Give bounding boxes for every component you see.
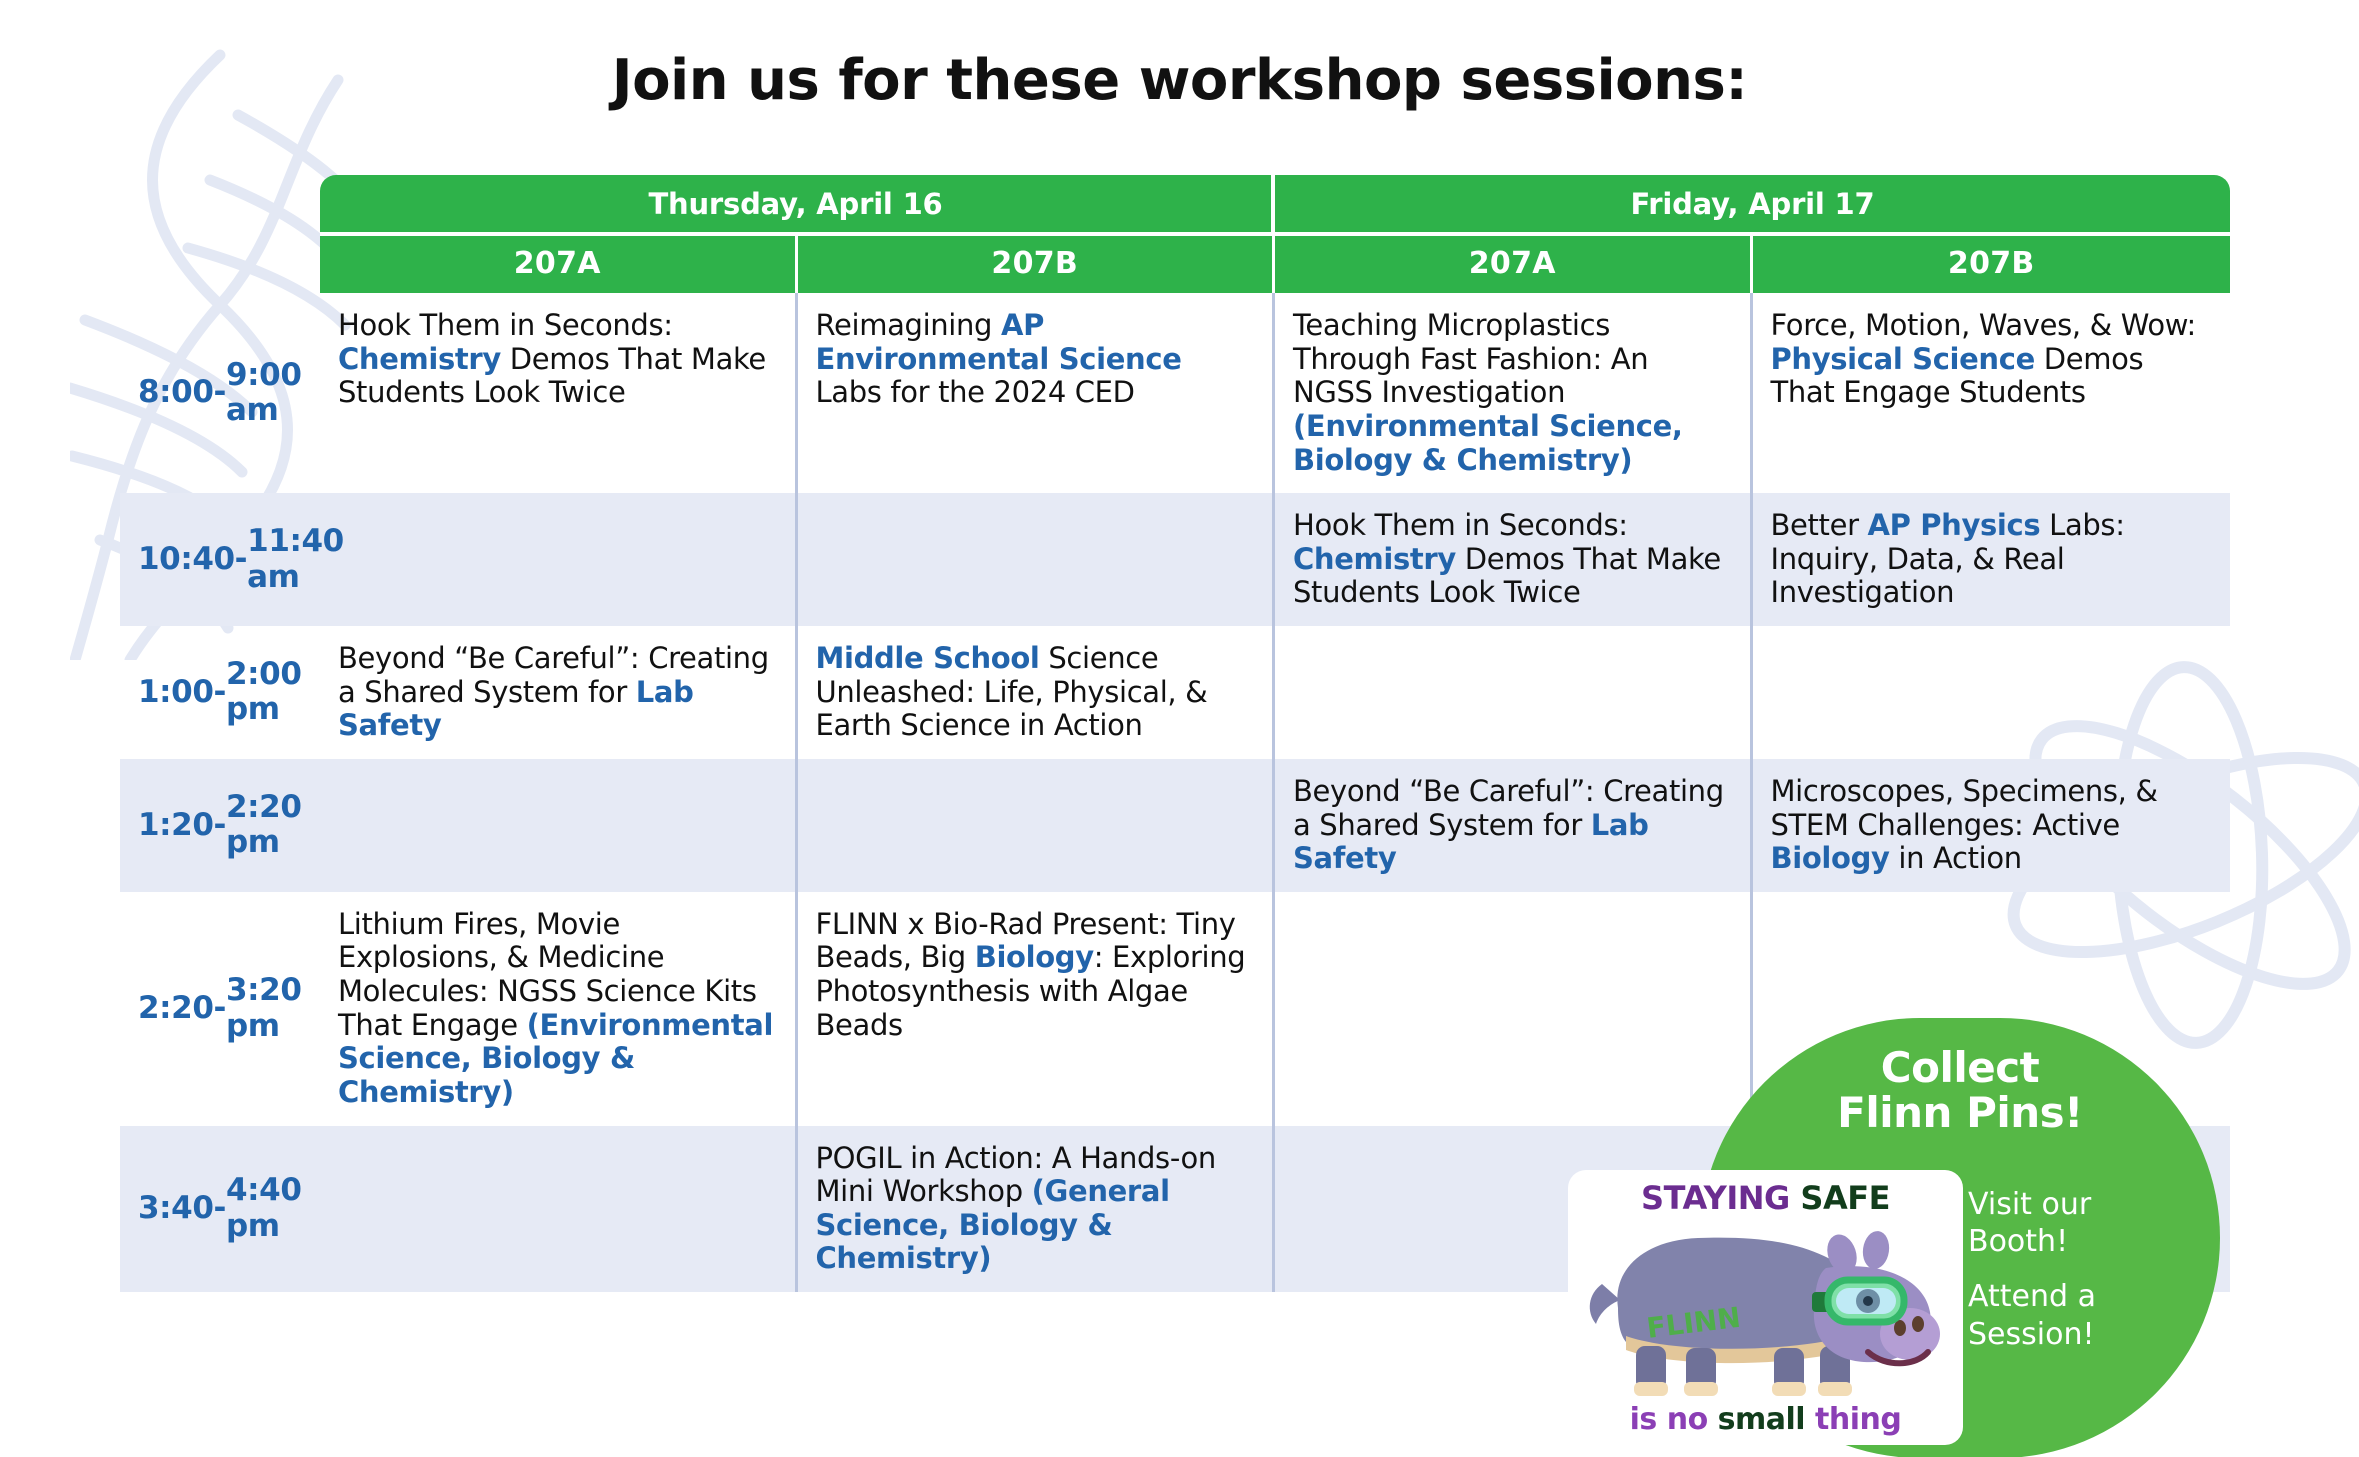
logo-top-text: STAYING SAFE xyxy=(1568,1179,1963,1217)
room-header-row: 207A 207B 207A 207B xyxy=(320,232,2230,293)
logo-word-thing: thing xyxy=(1815,1402,1901,1437)
time-slot-label: 8:00-9:00 am xyxy=(120,293,320,493)
session-cell[interactable]: Hook Them in Seconds: Chemistry Demos Th… xyxy=(1275,493,1753,626)
day-header-row: Thursday, April 16 Friday, April 17 xyxy=(320,175,2230,232)
page-title: Join us for these workshop sessions: xyxy=(0,48,2359,113)
empty-cell xyxy=(798,759,1276,892)
hippo-mascot-icon: FLINN xyxy=(1580,1212,1950,1402)
session-cell[interactable]: Reimagining AP Environmental Science Lab… xyxy=(798,293,1276,493)
badge-cta: Visit our Booth! Attend a Session! xyxy=(1968,1186,2198,1371)
logo-word-safe: SAFE xyxy=(1800,1179,1890,1217)
session-cell[interactable]: Microscopes, Specimens, & STEM Challenge… xyxy=(1753,759,2231,892)
session-cell[interactable]: FLINN x Bio-Rad Present: Tiny Beads, Big… xyxy=(798,892,1276,1126)
table-row: 1:20-2:20 pmBeyond “Be Careful”: Creatin… xyxy=(320,759,2230,892)
day-header-friday: Friday, April 17 xyxy=(1275,175,2230,232)
time-slot-label: 3:40-4:40 pm xyxy=(120,1126,320,1293)
session-cell[interactable]: Middle School Science Unleashed: Life, P… xyxy=(798,626,1276,759)
empty-cell xyxy=(798,493,1276,626)
room-header-thursday-207b: 207B xyxy=(798,236,1276,293)
table-header: Thursday, April 16 Friday, April 17 207A… xyxy=(320,175,2230,293)
logo-word-small: small xyxy=(1718,1402,1805,1437)
session-cell[interactable]: Beyond “Be Careful”: Creating a Shared S… xyxy=(1275,759,1753,892)
collect-flinn-pins-badge: Collect Flinn Pins! Visit our Booth! Att… xyxy=(1700,1018,2220,1457)
time-slot-label: 1:00-2:00 pm xyxy=(120,626,320,759)
staying-safe-logo-card: STAYING SAFE xyxy=(1568,1170,1963,1445)
empty-cell xyxy=(320,1126,798,1293)
table-row: 10:40-11:40 amHook Them in Seconds: Chem… xyxy=(320,493,2230,626)
room-header-friday-207b: 207B xyxy=(1753,236,2231,293)
badge-title-line2: Flinn Pins! xyxy=(1837,1088,2083,1137)
empty-cell xyxy=(320,759,798,892)
logo-bottom-text: is no small thing xyxy=(1568,1402,1963,1437)
empty-cell xyxy=(320,493,798,626)
table-row: 8:00-9:00 amHook Them in Seconds: Chemis… xyxy=(320,293,2230,493)
room-header-friday-207a: 207A xyxy=(1275,236,1753,293)
session-cell[interactable]: Force, Motion, Waves, & Wow: Physical Sc… xyxy=(1753,293,2231,493)
session-cell[interactable]: Hook Them in Seconds: Chemistry Demos Th… xyxy=(320,293,798,493)
time-slot-label: 10:40-11:40 am xyxy=(120,493,320,626)
session-cell[interactable]: Beyond “Be Careful”: Creating a Shared S… xyxy=(320,626,798,759)
poster-canvas: Join us for these workshop sessions: Thu… xyxy=(0,0,2359,1457)
badge-title-line1: Collect xyxy=(1881,1043,2039,1092)
empty-cell xyxy=(1753,626,2231,759)
table-row: 1:00-2:00 pmBeyond “Be Careful”: Creatin… xyxy=(320,626,2230,759)
time-slot-label: 1:20-2:20 pm xyxy=(120,759,320,892)
room-header-thursday-207a: 207A xyxy=(320,236,798,293)
badge-title: Collect Flinn Pins! xyxy=(1700,1046,2220,1135)
session-cell[interactable]: Teaching Microplastics Through Fast Fash… xyxy=(1275,293,1753,493)
day-header-thursday: Thursday, April 16 xyxy=(320,175,1275,232)
session-cell[interactable]: Lithium Fires, Movie Explosions, & Medic… xyxy=(320,892,798,1126)
time-slot-label: 2:20-3:20 pm xyxy=(120,892,320,1126)
session-cell[interactable]: Better AP Physics Labs: Inquiry, Data, &… xyxy=(1753,493,2231,626)
logo-word-staying: STAYING xyxy=(1641,1179,1790,1217)
logo-words-is-no: is no xyxy=(1630,1402,1708,1437)
empty-cell xyxy=(1275,626,1753,759)
session-cell[interactable]: POGIL in Action: A Hands-on Mini Worksho… xyxy=(798,1126,1276,1293)
empty-cell xyxy=(1275,892,1753,1126)
badge-cta-attend: Attend a Session! xyxy=(1968,1278,2198,1352)
badge-cta-visit: Visit our Booth! xyxy=(1968,1186,2198,1260)
